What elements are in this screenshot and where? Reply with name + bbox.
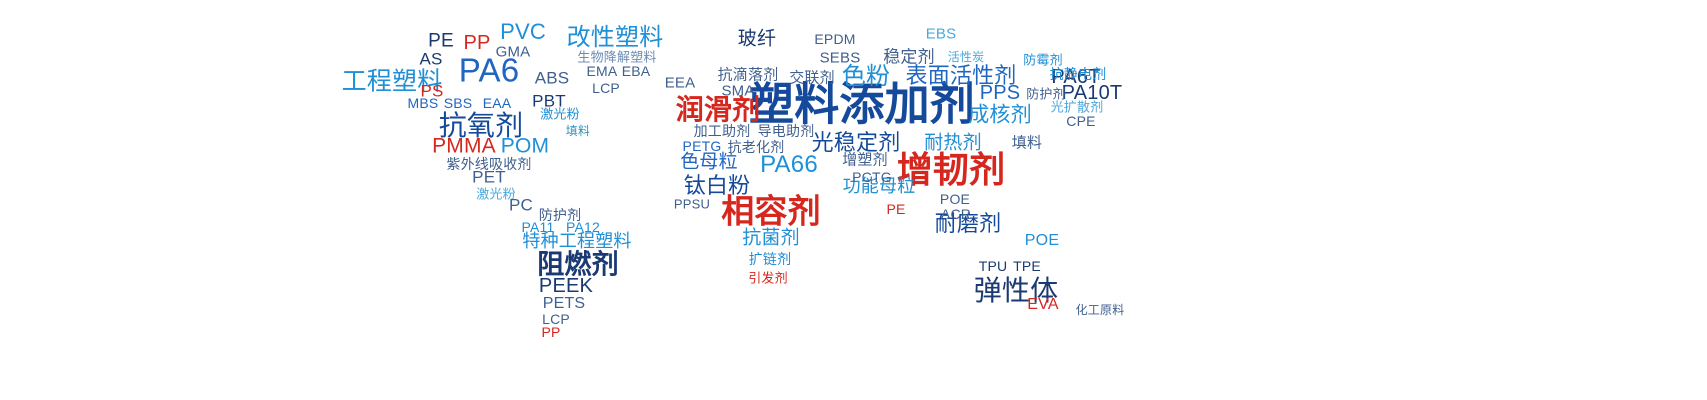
cloud-word[interactable]: PET	[472, 169, 506, 186]
cloud-word[interactable]: ABS	[535, 70, 570, 87]
cloud-word[interactable]: 润滑剂	[676, 96, 761, 124]
cloud-word[interactable]: TPU	[979, 259, 1008, 273]
cloud-word[interactable]: PETG	[683, 139, 722, 153]
cloud-word[interactable]: 玻纤	[738, 30, 776, 49]
cloud-word[interactable]: CPE	[1066, 114, 1095, 128]
cloud-word[interactable]: EEA	[665, 76, 696, 91]
cloud-word[interactable]: 稳定剂	[883, 49, 935, 66]
cloud-word[interactable]: PMMA	[432, 136, 496, 157]
cloud-word[interactable]: EBA	[622, 64, 651, 78]
cloud-word[interactable]: 抗静电剂	[1050, 67, 1107, 81]
cloud-word[interactable]: 相容剂	[721, 195, 821, 228]
cloud-word[interactable]: 改性塑料	[567, 26, 664, 50]
cloud-word[interactable]: PPSU	[674, 198, 710, 211]
cloud-word[interactable]: EBS	[926, 27, 957, 42]
cloud-word[interactable]: 交联剂	[789, 71, 835, 86]
cloud-word[interactable]: POM	[501, 136, 549, 157]
cloud-word[interactable]: 抗滴落剂	[718, 68, 779, 83]
cloud-word[interactable]: 防霉剂	[1023, 54, 1063, 67]
cloud-word[interactable]: 生物降解塑料	[577, 51, 656, 64]
cloud-word[interactable]: EVA	[1027, 297, 1058, 313]
cloud-word[interactable]: 耐热剂	[924, 134, 982, 153]
cloud-word[interactable]: 填料	[1012, 136, 1042, 151]
cloud-word[interactable]: PPS	[980, 83, 1021, 103]
cloud-word[interactable]: 色粉	[842, 65, 890, 89]
cloud-word[interactable]: PA12	[566, 220, 600, 234]
cloud-word[interactable]: 成核剂	[968, 105, 1032, 126]
cloud-word[interactable]: 加工助剂	[694, 124, 751, 138]
cloud-word[interactable]: PE	[886, 202, 905, 216]
cloud-word[interactable]: PP	[463, 33, 490, 53]
cloud-word[interactable]: ACR	[941, 207, 971, 221]
cloud-word[interactable]: PA11	[522, 220, 555, 234]
word-cloud-canvas: 塑料添加剂增韧剂相容剂阻燃剂润滑剂弹性体工程塑料抗氧剂PA6改性塑料表面活性剂光…	[0, 0, 1707, 400]
cloud-word[interactable]: EMA	[587, 64, 618, 78]
cloud-word[interactable]: POE	[1025, 233, 1059, 249]
cloud-word[interactable]: 钛白粉	[684, 175, 751, 197]
cloud-word[interactable]: GMA	[496, 45, 531, 60]
cloud-word[interactable]: LCP	[592, 81, 620, 95]
cloud-word[interactable]: EAA	[483, 96, 512, 110]
cloud-word[interactable]: PEEK	[539, 276, 593, 296]
cloud-word[interactable]: 光扩散剂	[1051, 101, 1104, 114]
cloud-word[interactable]: 抗老化剂	[728, 140, 785, 154]
cloud-word[interactable]: PP	[541, 325, 560, 339]
cloud-word[interactable]: 化工原料	[1076, 304, 1125, 316]
cloud-word[interactable]: MBS	[408, 96, 439, 110]
cloud-word[interactable]: 扩链剂	[749, 252, 792, 266]
cloud-word[interactable]: 活性炭	[948, 51, 985, 63]
cloud-word[interactable]: PBT	[532, 93, 566, 110]
cloud-word[interactable]: PVC	[500, 21, 546, 43]
cloud-word[interactable]: EPDM	[814, 32, 855, 46]
cloud-word[interactable]: PA66	[760, 153, 818, 177]
cloud-word[interactable]: SBS	[444, 96, 473, 110]
cloud-word[interactable]: POE	[940, 192, 970, 206]
cloud-word[interactable]: SMA	[721, 84, 754, 99]
cloud-word[interactable]: TPE	[1013, 259, 1041, 273]
cloud-word[interactable]: AS	[419, 51, 442, 68]
cloud-word[interactable]: 导电助剂	[758, 124, 815, 138]
cloud-word[interactable]: PC	[509, 197, 533, 214]
cloud-word[interactable]: 填料	[566, 125, 590, 137]
cloud-word[interactable]: SEBS	[820, 51, 861, 66]
cloud-word[interactable]: 色母粒	[680, 153, 738, 172]
cloud-word[interactable]: PETS	[543, 296, 586, 312]
cloud-word[interactable]: PE	[428, 32, 454, 51]
cloud-word[interactable]: PCTG	[852, 170, 892, 184]
cloud-word[interactable]: 抗菌剂	[742, 229, 800, 248]
cloud-word[interactable]: 增塑剂	[842, 153, 888, 168]
cloud-word[interactable]: 引发剂	[748, 272, 788, 285]
